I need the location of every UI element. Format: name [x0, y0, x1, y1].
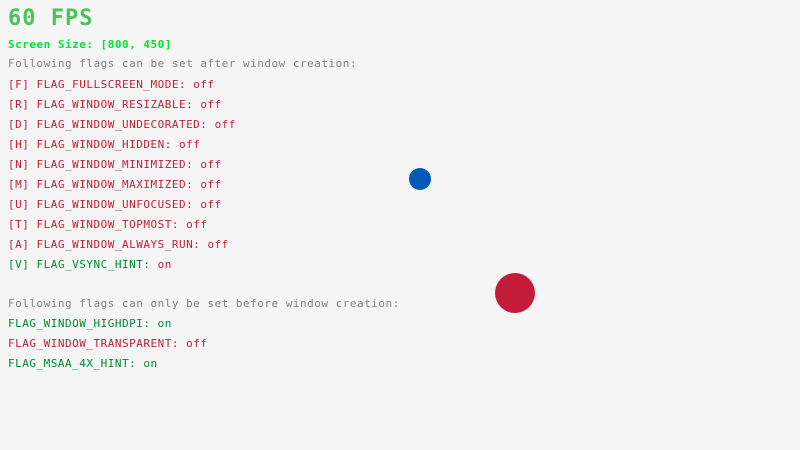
flag-value: off: [215, 118, 236, 131]
flag-value: on: [158, 317, 172, 330]
flag-label: [U] FLAG_WINDOW_UNFOCUSED:: [8, 198, 200, 211]
flag-label: [F] FLAG_FULLSCREEN_MODE:: [8, 78, 193, 91]
flag-value: off: [179, 138, 200, 151]
flag-row: FLAG_WINDOW_HIGHDPI: on: [8, 317, 172, 330]
flag-value: off: [200, 98, 221, 111]
flag-row[interactable]: [N] FLAG_WINDOW_MINIMIZED: off: [8, 158, 222, 171]
flag-label: FLAG_WINDOW_TRANSPARENT:: [8, 337, 186, 350]
flag-label: [N] FLAG_WINDOW_MINIMIZED:: [8, 158, 200, 171]
flag-row[interactable]: [R] FLAG_WINDOW_RESIZABLE: off: [8, 98, 222, 111]
flag-value: off: [193, 78, 214, 91]
flag-value: off: [200, 198, 221, 211]
flag-row[interactable]: [D] FLAG_WINDOW_UNDECORATED: off: [8, 118, 236, 131]
raylib-window-flags-demo: 60 FPS Screen Size: [800, 450] Following…: [0, 0, 800, 450]
flag-label: [T] FLAG_WINDOW_TOPMOST:: [8, 218, 186, 231]
before-creation-header: Following flags can only be set before w…: [8, 297, 400, 310]
after-creation-header: Following flags can be set after window …: [8, 57, 357, 70]
flag-row: FLAG_MSAA_4X_HINT: on: [8, 357, 158, 370]
flag-row: FLAG_WINDOW_TRANSPARENT: off: [8, 337, 207, 350]
flag-value: off: [200, 158, 221, 171]
fps-counter: 60 FPS: [8, 6, 93, 31]
flag-label: [R] FLAG_WINDOW_RESIZABLE:: [8, 98, 200, 111]
flag-value: off: [200, 178, 221, 191]
flag-label: [H] FLAG_WINDOW_HIDDEN:: [8, 138, 179, 151]
blue-ball-shape: [409, 168, 431, 190]
flag-label: [M] FLAG_WINDOW_MAXIMIZED:: [8, 178, 200, 191]
red-ball-shape: [495, 273, 535, 313]
flag-value: off: [207, 238, 228, 251]
flag-value: on: [143, 357, 157, 370]
screen-size-label: Screen Size: [800, 450]: [8, 38, 172, 51]
flag-row[interactable]: [U] FLAG_WINDOW_UNFOCUSED: off: [8, 198, 222, 211]
flag-label: FLAG_MSAA_4X_HINT:: [8, 357, 143, 370]
flag-value: off: [186, 218, 207, 231]
flag-label: [A] FLAG_WINDOW_ALWAYS_RUN:: [8, 238, 207, 251]
flag-label: FLAG_WINDOW_HIGHDPI:: [8, 317, 158, 330]
flag-row[interactable]: [A] FLAG_WINDOW_ALWAYS_RUN: off: [8, 238, 229, 251]
flag-value: off: [186, 337, 207, 350]
flag-row[interactable]: [M] FLAG_WINDOW_MAXIMIZED: off: [8, 178, 222, 191]
flag-label: [D] FLAG_WINDOW_UNDECORATED:: [8, 118, 215, 131]
flag-row[interactable]: [F] FLAG_FULLSCREEN_MODE: off: [8, 78, 215, 91]
flag-value: on: [158, 258, 172, 271]
flag-row[interactable]: [V] FLAG_VSYNC_HINT: on: [8, 258, 172, 271]
flag-row[interactable]: [H] FLAG_WINDOW_HIDDEN: off: [8, 138, 200, 151]
flag-row[interactable]: [T] FLAG_WINDOW_TOPMOST: off: [8, 218, 207, 231]
flag-label: [V] FLAG_VSYNC_HINT:: [8, 258, 158, 271]
